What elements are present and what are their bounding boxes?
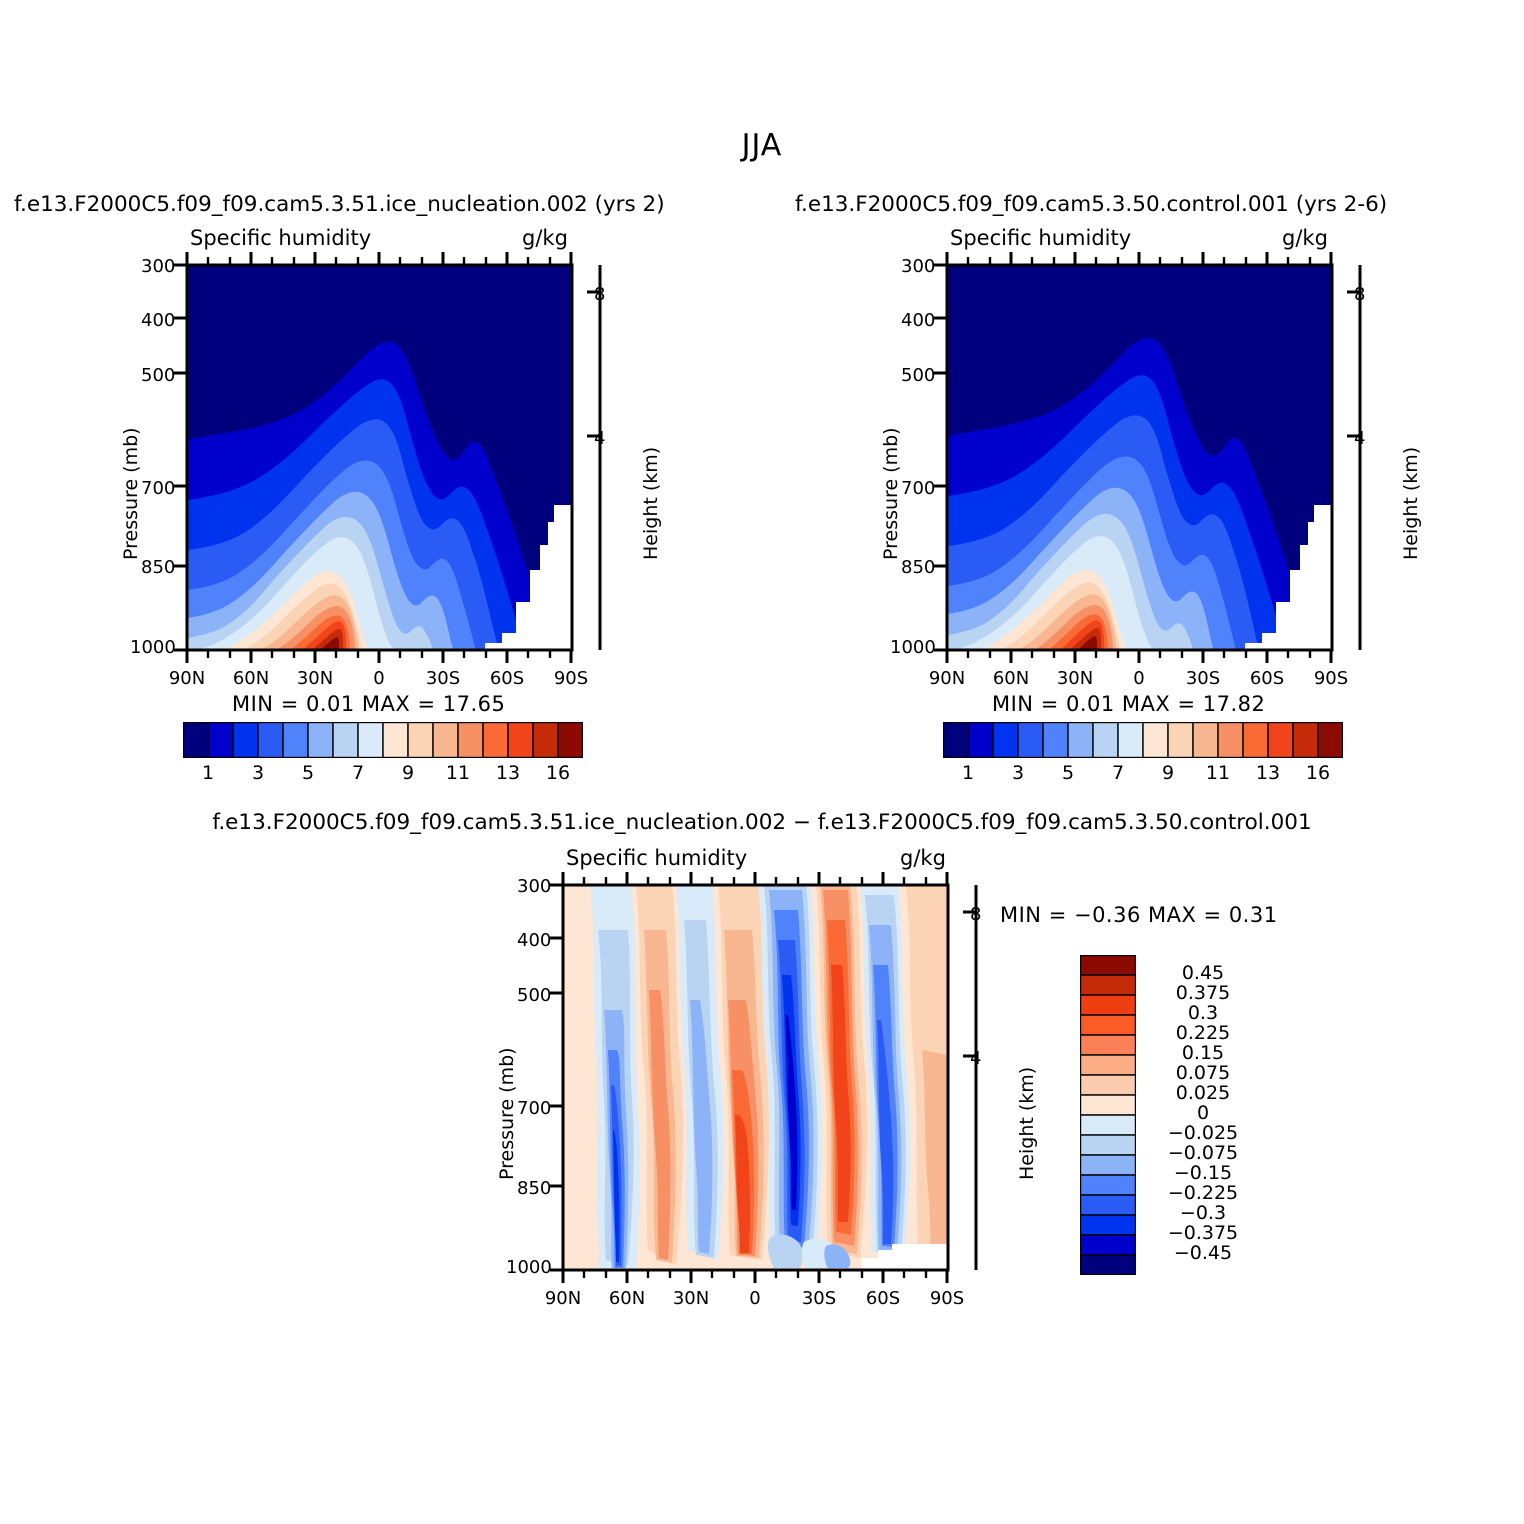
colorbar-cell xyxy=(1080,995,1136,1015)
colorbar-cell xyxy=(1093,722,1118,758)
left-xtick-60S: 60S xyxy=(477,668,537,689)
colorbar-cell xyxy=(558,722,583,758)
left-panel-units-label: g/kg xyxy=(522,226,568,250)
colorbar-cell xyxy=(1168,722,1193,758)
diff-xtick-60S: 60S xyxy=(853,1288,913,1309)
diff-panel-y-ticks xyxy=(550,885,563,1270)
colorbar-cell xyxy=(993,722,1018,758)
diff-xtick-90N: 90N xyxy=(533,1288,593,1309)
diff-panel-case-title: f.e13.F2000C5.f09_f09.cam5.3.51.ice_nucl… xyxy=(0,810,1524,835)
right-panel-variable-label: Specific humidity xyxy=(950,226,1131,250)
right-panel-minmax: MIN = 0.01 MAX = 17.82 xyxy=(992,692,1265,716)
diff-colorbar-label: 0.075 xyxy=(1148,1062,1258,1084)
right-xtick-60S: 60S xyxy=(1237,668,1297,689)
left-cbar-label-16: 16 xyxy=(533,762,583,784)
left-panel-contour-plot[interactable] xyxy=(150,250,610,670)
right-xtick-30S: 30S xyxy=(1173,668,1233,689)
left-panel-variable-label: Specific humidity xyxy=(190,226,371,250)
diff-panel-y-axis-label: Pressure (mb) xyxy=(496,1047,518,1180)
right-panel-y2-axis-label: Height (km) xyxy=(1400,447,1422,560)
colorbar-cell xyxy=(1218,722,1243,758)
colorbar-cell xyxy=(433,722,458,758)
left-cbar-label-13: 13 xyxy=(483,762,533,784)
diff-xtick-60N: 60N xyxy=(597,1288,657,1309)
diff-colorbar-label: −0.45 xyxy=(1148,1242,1258,1264)
colorbar-cell xyxy=(208,722,233,758)
diff-panel-field xyxy=(563,885,952,1272)
right-cbar-label-3: 3 xyxy=(993,762,1043,784)
diff-colorbar-label: 0.45 xyxy=(1148,962,1258,984)
left-cbar-label-3: 3 xyxy=(233,762,283,784)
colorbar-cell xyxy=(358,722,383,758)
left-cbar-label-9: 9 xyxy=(383,762,433,784)
diff-colorbar-label: −0.375 xyxy=(1148,1222,1258,1244)
colorbar-cell xyxy=(968,722,993,758)
right-xtick-90N: 90N xyxy=(917,668,977,689)
right-panel-height-axis xyxy=(1347,265,1360,650)
colorbar-cell xyxy=(1318,722,1343,758)
diff-colorbar-label: 0 xyxy=(1148,1102,1258,1124)
colorbar-cell xyxy=(1080,1175,1136,1195)
right-cbar-label-1: 1 xyxy=(943,762,993,784)
colorbar-cell xyxy=(483,722,508,758)
left-xtick-30N: 30N xyxy=(285,668,345,689)
diff-panel-y2-axis-label: Height (km) xyxy=(1016,1067,1038,1180)
colorbar-cell xyxy=(1080,1095,1136,1115)
colorbar-cell xyxy=(1243,722,1268,758)
colorbar-cell xyxy=(408,722,433,758)
diff-xtick-0: 0 xyxy=(725,1288,785,1309)
diff-colorbar-label: 0.3 xyxy=(1148,1002,1258,1024)
right-cbar-label-9: 9 xyxy=(1143,762,1193,784)
left-panel-y-axis-label: Pressure (mb) xyxy=(120,427,142,560)
diff-colorbar-label: −0.025 xyxy=(1148,1122,1258,1144)
right-xtick-0: 0 xyxy=(1109,668,1169,689)
right-panel-contour-plot[interactable] xyxy=(910,250,1370,670)
colorbar-cell xyxy=(1268,722,1293,758)
colorbar-cell xyxy=(533,722,558,758)
colorbar-cell xyxy=(1043,722,1068,758)
diff-colorbar-label: 0.225 xyxy=(1148,1022,1258,1044)
right-cbar-label-13: 13 xyxy=(1243,762,1293,784)
diff-colorbar-label: −0.15 xyxy=(1148,1162,1258,1184)
left-cbar-label-11: 11 xyxy=(433,762,483,784)
colorbar-cell xyxy=(1080,1135,1136,1155)
colorbar-cell xyxy=(1080,1235,1136,1255)
diff-colorbar-label: −0.3 xyxy=(1148,1202,1258,1224)
diff-colorbar-label: −0.225 xyxy=(1148,1182,1258,1204)
left-xtick-90N: 90N xyxy=(157,668,217,689)
right-cbar-label-16: 16 xyxy=(1293,762,1343,784)
diff-panel-minmax: MIN = −0.36 MAX = 0.31 xyxy=(1000,903,1278,927)
right-cbar-label-5: 5 xyxy=(1043,762,1093,784)
colorbar-cell xyxy=(183,722,208,758)
colorbar-cell xyxy=(1193,722,1218,758)
left-colorbar[interactable] xyxy=(183,722,583,758)
right-panel-units-label: g/kg xyxy=(1282,226,1328,250)
diff-panel-units-label: g/kg xyxy=(900,846,946,870)
right-colorbar[interactable] xyxy=(943,722,1343,758)
right-xtick-60N: 60N xyxy=(981,668,1041,689)
right-panel-y-axis-label: Pressure (mb) xyxy=(880,427,902,560)
colorbar-cell xyxy=(333,722,358,758)
colorbar-cell xyxy=(1080,975,1136,995)
colorbar-cell xyxy=(1080,1075,1136,1095)
right-panel-case-title: f.e13.F2000C5.f09_f09.cam5.3.50.control.… xyxy=(795,192,1387,217)
left-xtick-0: 0 xyxy=(349,668,409,689)
diff-colorbar-label: 0.025 xyxy=(1148,1082,1258,1104)
diff-colorbar-label: −0.075 xyxy=(1148,1142,1258,1164)
left-xtick-90S: 90S xyxy=(541,668,601,689)
season-title: JJA xyxy=(0,128,1524,163)
diff-xtick-30S: 30S xyxy=(789,1288,849,1309)
right-panel-field xyxy=(947,265,1336,657)
right-cbar-label-11: 11 xyxy=(1193,762,1243,784)
diff-colorbar[interactable] xyxy=(1080,955,1136,1275)
colorbar-cell xyxy=(1143,722,1168,758)
left-panel-y-ticks xyxy=(174,265,187,650)
diff-xtick-30N: 30N xyxy=(661,1288,721,1309)
diff-panel-variable-label: Specific humidity xyxy=(566,846,747,870)
colorbar-cell xyxy=(1080,1115,1136,1135)
diff-panel-height-axis xyxy=(963,885,976,1270)
left-panel-field xyxy=(187,265,576,657)
right-cbar-label-7: 7 xyxy=(1093,762,1143,784)
left-panel-height-axis xyxy=(587,265,600,650)
colorbar-cell xyxy=(1018,722,1043,758)
colorbar-cell xyxy=(233,722,258,758)
diff-panel-contour-plot[interactable] xyxy=(526,870,986,1290)
diff-colorbar-label: 0.375 xyxy=(1148,982,1258,1004)
colorbar-cell xyxy=(1080,1035,1136,1055)
left-cbar-label-5: 5 xyxy=(283,762,333,784)
colorbar-cell xyxy=(943,722,968,758)
colorbar-cell xyxy=(1080,1155,1136,1175)
right-xtick-90S: 90S xyxy=(1301,668,1361,689)
colorbar-cell xyxy=(1118,722,1143,758)
colorbar-cell xyxy=(283,722,308,758)
left-panel-case-title: f.e13.F2000C5.f09_f09.cam5.3.51.ice_nucl… xyxy=(14,192,665,217)
left-panel-minmax: MIN = 0.01 MAX = 17.65 xyxy=(232,692,505,716)
diff-colorbar-label: 0.15 xyxy=(1148,1042,1258,1064)
colorbar-cell xyxy=(1080,1055,1136,1075)
colorbar-cell xyxy=(1080,1195,1136,1215)
right-xtick-30N: 30N xyxy=(1045,668,1105,689)
diff-xtick-90S: 90S xyxy=(917,1288,977,1309)
colorbar-cell xyxy=(458,722,483,758)
colorbar-cell xyxy=(383,722,408,758)
colorbar-cell xyxy=(1080,1015,1136,1035)
colorbar-cell xyxy=(1080,955,1136,975)
colorbar-cell xyxy=(508,722,533,758)
left-xtick-30S: 30S xyxy=(413,668,473,689)
colorbar-cell xyxy=(1293,722,1318,758)
left-cbar-label-1: 1 xyxy=(183,762,233,784)
colorbar-cell xyxy=(258,722,283,758)
diff-colorbar-labels: 0.450.3750.30.2250.150.0750.0250−0.025−0… xyxy=(1148,955,1278,1275)
colorbar-cell xyxy=(1068,722,1093,758)
left-panel-y2-axis-label: Height (km) xyxy=(640,447,662,560)
right-panel-y-ticks xyxy=(934,265,947,650)
left-xtick-60N: 60N xyxy=(221,668,281,689)
left-cbar-label-7: 7 xyxy=(333,762,383,784)
colorbar-cell xyxy=(1080,1255,1136,1275)
colorbar-cell xyxy=(1080,1215,1136,1235)
colorbar-cell xyxy=(308,722,333,758)
